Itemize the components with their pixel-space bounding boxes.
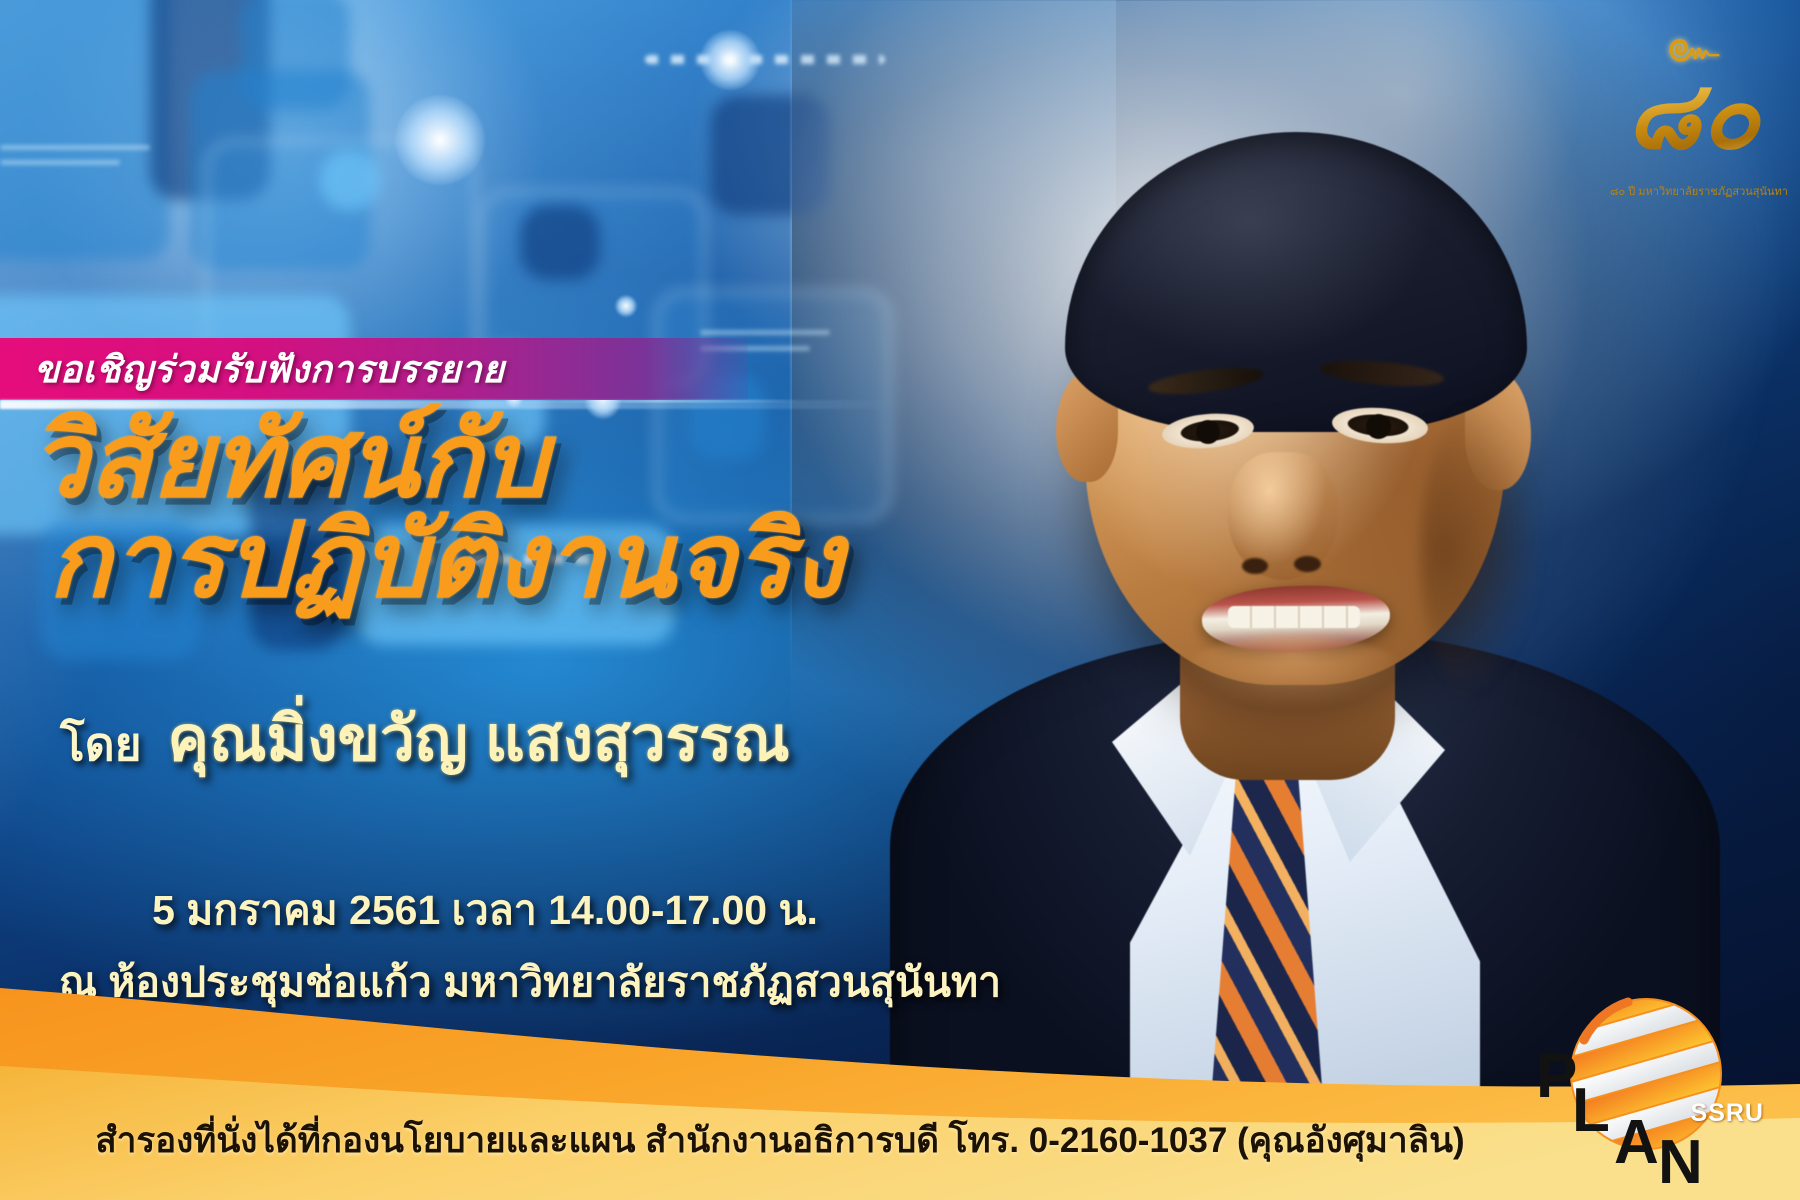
plan-ssru-subtext: SSRU (1691, 1099, 1764, 1128)
plan-letter-l: L (1572, 1084, 1608, 1137)
footer-contact-text: สำรองที่นั่งได้ที่กองนโยบายและแผน สำนักง… (0, 1113, 1560, 1168)
anniversary-caption: ๘๐ ปี มหาวิทยาลัยราชภัฏสวนสุนันทา (1610, 182, 1776, 200)
speaker-line: โดย คุณมิ่งขวัญ แสงสุวรรณ (60, 690, 1000, 788)
anniversary-80-logo: ๛ ๘๐ ๘๐ ปี มหาวิทยาลัยราชภัฏสวนสุนันทา (1610, 22, 1776, 202)
lecture-title: วิสัยทัศน์กับ การปฏิบัติงานจริง (0, 408, 1000, 614)
title-line-1: วิสัยทัศน์กับ (30, 408, 1000, 514)
plan-ssru-logo: P L A N SSRU (1530, 978, 1770, 1178)
plan-letter-p: P (1536, 1050, 1575, 1103)
title-line-2: การปฏิบัติงานจริง (48, 508, 1000, 614)
speaker-by-label: โดย (60, 708, 142, 781)
anniversary-numeral: ๘๐ (1610, 68, 1776, 164)
invitation-banner-text: ขอเชิญร่วมรับฟังการบรรยาย (34, 341, 734, 397)
plan-letter-n: N (1658, 1136, 1701, 1189)
speaker-name: คุณมิ่งขวัญ แสงสุวรรณ (168, 690, 790, 788)
plan-letter-a: A (1614, 1116, 1657, 1169)
event-poster: ขอเชิญร่วมรับฟังการบรรยาย วิสัยทัศน์กับ … (0, 0, 1800, 1200)
